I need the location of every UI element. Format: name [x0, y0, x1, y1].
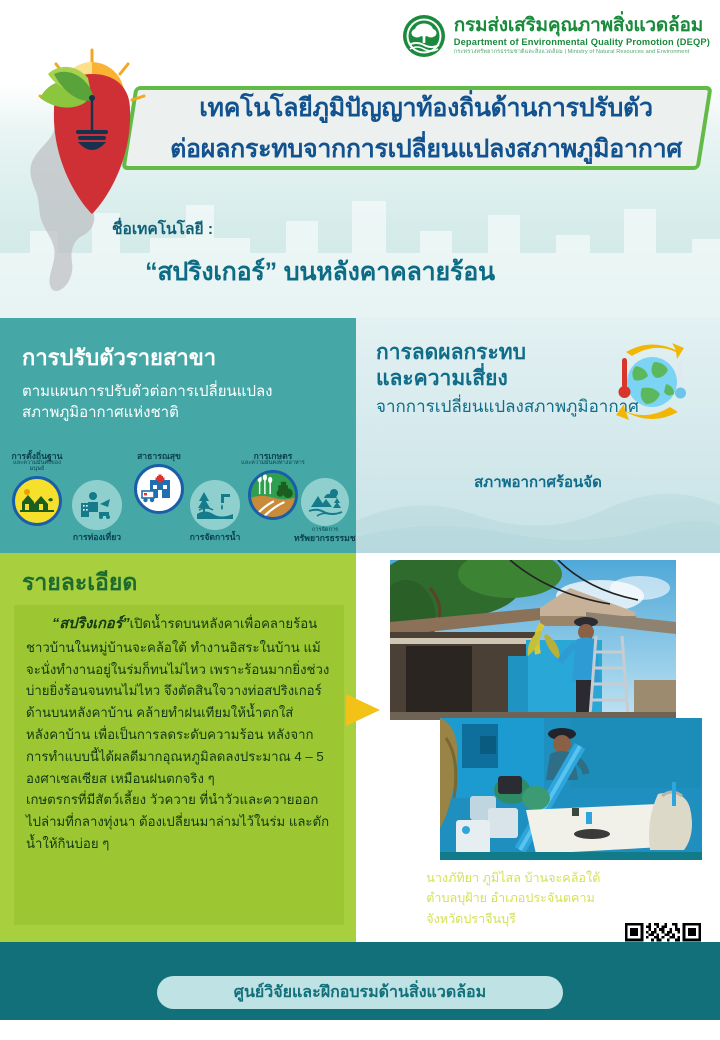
risk-label: สภาพอากาศร้อนจัด — [356, 470, 720, 494]
ministry-line: กระทรวงทรัพยากรธรรมชาติและสิ่งแวดล้อม | … — [454, 50, 710, 56]
sector-sublabel-natural-resources: ทรัพยากรธรรมชาติ — [294, 534, 356, 543]
detail-paragraph-1: “สปริงเกอร์”เปิดน้ำรดบนหลังคาเพื่อคลายร้… — [26, 613, 330, 789]
title-line-2: ต่อผลกระทบจากการเปลี่ยนแปลงสภาพภูมิอากาศ — [170, 129, 682, 169]
sector-icon-strip: การตั้งถิ่นฐาน และความมั่นคงของมนุษย์ — [0, 452, 356, 553]
adaptation-heading: การปรับตัวรายสาขา — [22, 340, 356, 375]
org-name-en: Department of Environmental Quality Prom… — [454, 38, 710, 48]
photo-water-tank — [440, 718, 702, 860]
sector-item-settlement[interactable]: การตั้งถิ่นฐาน และความมั่นคงของมนุษย์ — [6, 452, 68, 526]
adaptation-subheading-2: สภาพภูมิอากาศแห่งชาติ — [22, 402, 356, 423]
mountain-forest-icon — [307, 487, 343, 517]
sector-item-public-health[interactable]: สาธารณสุข — [128, 452, 190, 514]
location-label: สถานที่ : — [366, 866, 418, 936]
location-line-2: ตำบลบุฝ้าย อำเภอประจันตคาม — [426, 888, 600, 908]
location-block: สถานที่ : นางภัทิยา ภูมิไสล บ้านจะคล้อใต… — [366, 866, 606, 936]
sector-label-tourism: การท่องเที่ยว — [66, 533, 128, 542]
detail-section: รายละเอียด “สปริงเกอร์”เปิดน้ำรดบนหลังคา… — [0, 553, 356, 942]
detail-title: รายละเอียด — [22, 565, 356, 601]
deqp-logo: กรมส่งเสริมคุณภาพสิ่งแวดล้อม Department … — [402, 14, 710, 58]
mitigation-panel: การลดผลกระทบ และความเสี่ยง จากการเปลี่ยน… — [356, 318, 720, 553]
hospital-ambulance-icon — [141, 474, 177, 504]
yellow-arrow-icon — [346, 690, 384, 730]
sector-label-water: การจัดการน้ำ — [184, 533, 246, 542]
tourism-traveler-icon — [80, 490, 114, 520]
title-banner: เทคโนโลยีภูมิปัญญาท้องถิ่นด้านการปรับตัว… — [140, 88, 712, 168]
globe-thermometer-icon — [602, 338, 698, 426]
adaptation-subheading-1: ตามแผนการปรับตัวต่อการเปลี่ยนแปลง — [22, 381, 356, 402]
house-ladder-worker-photo — [390, 560, 676, 720]
sector-label-public-health: สาธารณสุข — [128, 452, 190, 461]
technology-label: ชื่อเทคโนโลยี : — [112, 216, 213, 241]
detail-lead: “สปริงเกอร์” — [52, 616, 130, 632]
village-houses-icon — [20, 486, 54, 516]
lightbulb-leaf-map-pin-icon — [22, 48, 162, 218]
title-line-1: เทคโนโลยีภูมิปัญญาท้องถิ่นด้านการปรับตัว — [199, 88, 652, 128]
sector-item-water-management[interactable]: การจัดการน้ำ — [184, 480, 246, 542]
detail-paragraph-2: เกษตรกรที่มีสัตว์เลี้ยง วัวควาย ที่นำวัว… — [26, 789, 330, 854]
sector-sublabel-agriculture: และความมั่นคงทางอาหาร — [240, 461, 306, 467]
location-line-1: นางภัทิยา ภูมิไสล บ้านจะคล้อใต้ — [426, 868, 600, 888]
footer-text: ศูนย์วิจัยและฝึกอบรมด้านสิ่งแวดล้อม — [234, 980, 486, 1005]
farm-tractor-crops-icon — [251, 470, 295, 520]
hero-section: กรมส่งเสริมคุณภาพสิ่งแวดล้อม Department … — [0, 0, 720, 318]
detail-paragraph-1-text: เปิดน้ำรดบนหลังคาเพื่อคลายร้อน ชาวบ้านใน… — [26, 616, 329, 786]
org-name-th: กรมส่งเสริมคุณภาพสิ่งแวดล้อม — [454, 16, 710, 36]
sector-item-natural-resources[interactable]: การจัดการ ทรัพยากรธรรมชาติ — [294, 478, 356, 543]
sector-sublabel-settlement: และความมั่นคงของมนุษย์ — [6, 461, 68, 473]
photo-roof-sprinkler — [390, 560, 676, 720]
footer-pill[interactable]: ศูนย์วิจัยและฝึกอบรมด้านสิ่งแวดล้อม — [157, 976, 563, 1009]
tree-in-circle-logo-icon — [402, 14, 446, 58]
water-pipe-containers-photo — [440, 718, 702, 860]
sector-item-tourism[interactable]: การท่องเที่ยว — [66, 480, 128, 542]
location-line-3: จังหวัดปราจีนบุรี — [426, 909, 600, 929]
poster-root: กรมส่งเสริมคุณภาพสิ่งแวดล้อม Department … — [0, 0, 720, 1040]
detail-body: “สปริงเกอร์”เปิดน้ำรดบนหลังคาเพื่อคลายร้… — [14, 605, 344, 925]
river-faucet-icon — [197, 490, 233, 520]
technology-name: “สปริงเกอร์” บนหลังคาคลายร้อน — [0, 252, 640, 292]
